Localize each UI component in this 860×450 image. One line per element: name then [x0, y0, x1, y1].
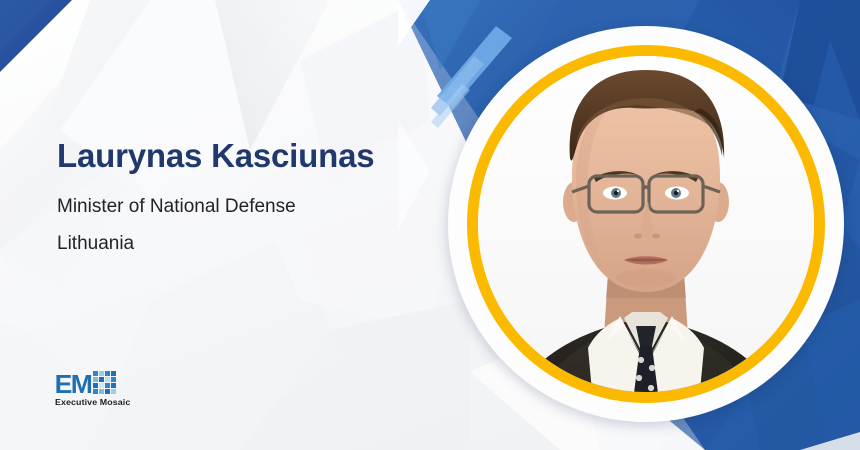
- logo-mark-row: EM: [55, 371, 143, 395]
- logo-wordmark: Executive Mosaic: [55, 397, 147, 407]
- portrait-illustration: [478, 56, 814, 392]
- executive-mosaic-logo[interactable]: EM Executive Mosaic: [55, 371, 143, 407]
- person-role: Minister of National Defense: [57, 195, 437, 219]
- person-info-block: Laurynas Kasciunas Minister of National …: [57, 138, 437, 256]
- profile-card: Laurynas Kasciunas Minister of National …: [0, 0, 860, 450]
- logo-em-mark: EM: [55, 373, 92, 395]
- page-title: Laurynas Kasciunas: [57, 138, 437, 174]
- person-country: Lithuania: [57, 232, 437, 256]
- mosaic-grid-icon: [93, 371, 116, 394]
- portrait-circle: [448, 26, 844, 422]
- portrait-photo: [478, 56, 814, 392]
